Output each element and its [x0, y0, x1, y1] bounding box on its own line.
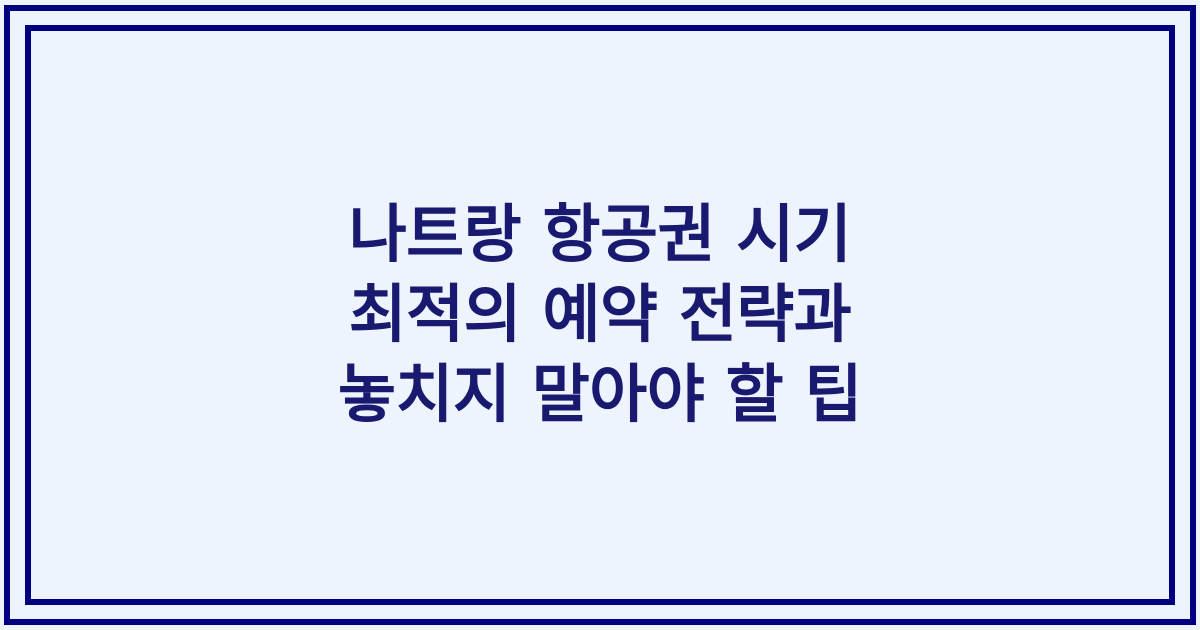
title-card: 나트랑 항공권 시기 최적의 예약 전략과 놓치지 말아야 할 팁 — [0, 0, 1200, 630]
title-line-1: 나트랑 항공권 시기 — [349, 195, 852, 275]
title-line-3: 놓치지 말아야 할 팁 — [338, 355, 862, 435]
title-line-2: 최적의 예약 전략과 — [349, 275, 852, 355]
title-block: 나트랑 항공권 시기 최적의 예약 전략과 놓치지 말아야 할 팁 — [25, 25, 1175, 605]
